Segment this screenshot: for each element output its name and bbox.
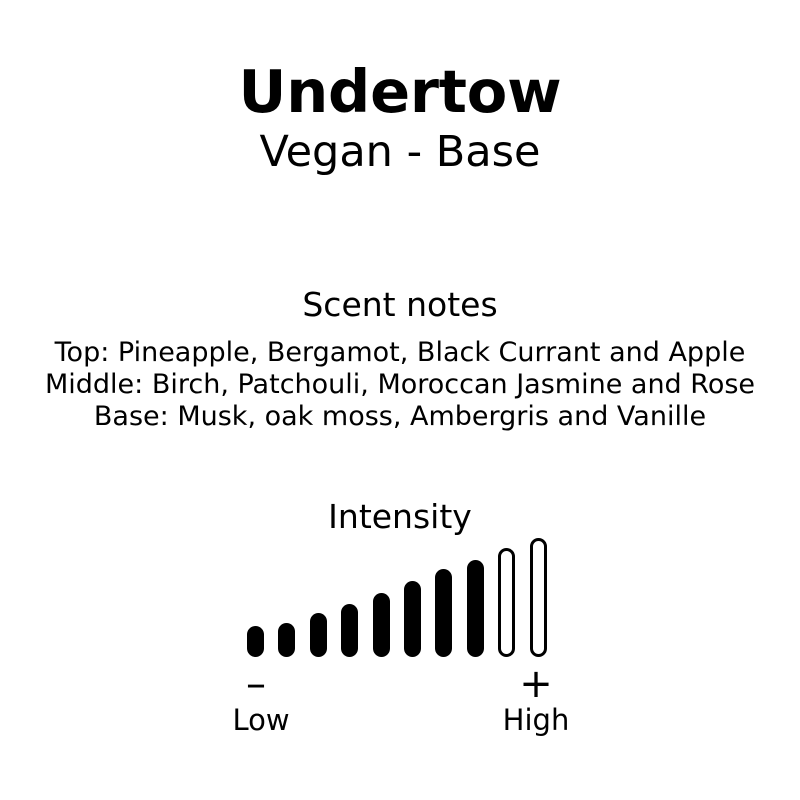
- intensity-heading: Intensity: [0, 500, 800, 533]
- intensity-bar-9: [498, 548, 515, 657]
- page-title: Undertow: [0, 62, 800, 121]
- plus-icon: +: [506, 664, 566, 704]
- scent-product-card: Undertow Vegan - Base Scent notes Top: P…: [0, 0, 800, 800]
- intensity-bar-3: [310, 613, 327, 657]
- intensity-bar-7: [435, 569, 452, 657]
- intensity-high-label: High: [466, 706, 606, 735]
- scent-note-middle: Middle: Birch, Patchouli, Moroccan Jasmi…: [0, 369, 800, 401]
- intensity-bar-4: [341, 604, 358, 657]
- scent-notes-list: Top: Pineapple, Bergamot, Black Currant …: [0, 337, 800, 433]
- product-subtitle: Vegan - Base: [0, 131, 800, 174]
- scent-note-top: Top: Pineapple, Bergamot, Black Currant …: [0, 337, 800, 369]
- intensity-bar-5: [373, 593, 390, 657]
- scent-note-base: Base: Musk, oak moss, Ambergris and Vani…: [0, 401, 800, 433]
- intensity-gauge: [247, 530, 547, 657]
- intensity-bar-2: [278, 623, 295, 657]
- intensity-bar-10: [530, 538, 547, 657]
- intensity-bar-6: [404, 581, 421, 657]
- minus-icon: –: [226, 664, 286, 704]
- intensity-bar-8: [467, 560, 484, 657]
- scent-notes-heading: Scent notes: [0, 288, 800, 321]
- intensity-bar-1: [247, 626, 264, 657]
- intensity-low-label: Low: [191, 706, 331, 735]
